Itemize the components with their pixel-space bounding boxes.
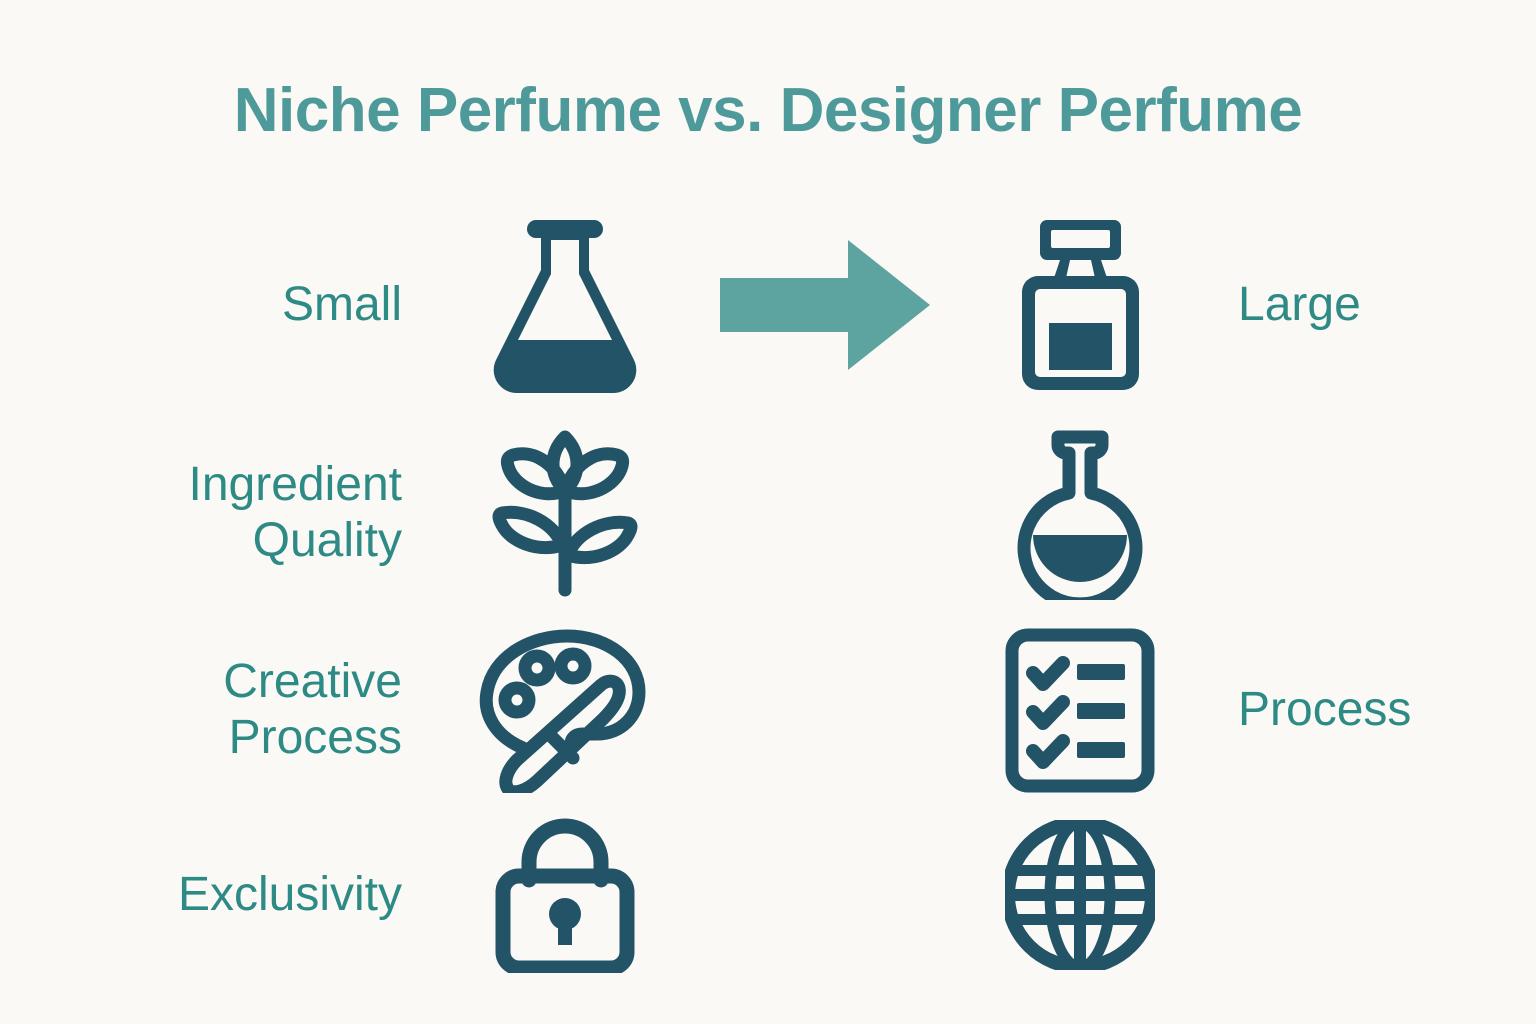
row-4-right-icon-cell: [940, 820, 1220, 970]
round-flask-icon: [1006, 425, 1154, 600]
row-3-left-label-line-1: Creative: [0, 654, 402, 710]
row-1-right-label-line-1: Large: [1238, 277, 1536, 333]
row-3-right-label-line-1: Process: [1238, 682, 1536, 738]
row-1-left-label: Small: [0, 277, 420, 333]
palette-icon: [475, 628, 655, 793]
page-title: Niche Perfume vs. Designer Perfume: [0, 78, 1536, 143]
conical-flask-icon: [485, 218, 645, 393]
flower-icon: [490, 427, 640, 599]
comparison-row-size: Small: [0, 205, 1536, 405]
row-3-left-label-line-2: Process: [0, 710, 402, 766]
lock-icon: [493, 818, 638, 973]
row-2-left-icon-cell: [420, 427, 710, 599]
row-4-left-label-line-1: Exclusivity: [0, 867, 402, 923]
row-2-left-label-line-1: Ingredient: [0, 457, 402, 513]
row-3-left-icon-cell: [420, 628, 710, 793]
row-1-left-icon-cell: [420, 218, 710, 393]
row-1-left-label-line-1: Small: [0, 277, 402, 333]
row-4-left-icon-cell: [420, 818, 710, 973]
row-2-right-icon-cell: [940, 425, 1220, 600]
globe-icon: [1005, 820, 1155, 970]
infographic-canvas: Niche Perfume vs. Designer Perfume Small: [0, 0, 1536, 1024]
comparison-row-process: Creative Process: [0, 610, 1536, 810]
row-1-right-icon-cell: [940, 218, 1220, 393]
checklist-icon: [1005, 628, 1155, 793]
row-2-left-label: Ingredient Quality: [0, 457, 420, 568]
comparison-row-ingredient-quality: Ingredient Quality: [0, 415, 1536, 610]
row-3-left-label: Creative Process: [0, 654, 420, 765]
perfume-bottle-icon: [1003, 218, 1158, 393]
comparison-row-exclusivity: Exclusivity: [0, 805, 1536, 985]
row-4-left-label: Exclusivity: [0, 867, 420, 923]
row-2-left-label-line-2: Quality: [0, 513, 402, 569]
row-3-right-icon-cell: [940, 628, 1220, 793]
row-1-arrow-cell: [710, 240, 940, 370]
row-1-right-label: Large: [1220, 277, 1536, 333]
right-arrow-icon: [720, 240, 930, 370]
row-3-right-label: Process: [1220, 682, 1536, 738]
